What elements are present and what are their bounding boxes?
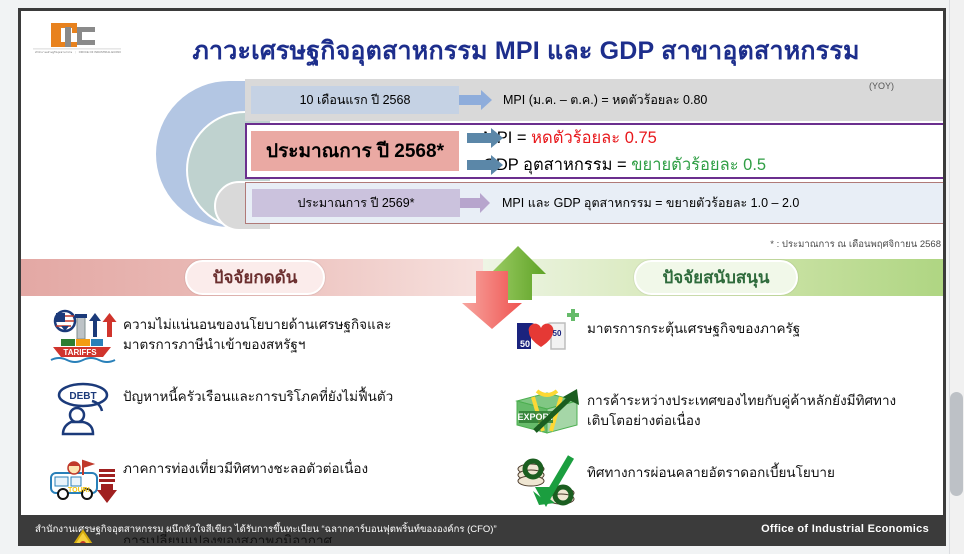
list-item-text: ปัญหาหนี้ครัวเรือนและการบริโภคที่ยังไม่ฟ… bbox=[123, 381, 487, 407]
list-item-text: มาตรการกระตุ้นเศรษฐกิจของภาครัฐ bbox=[587, 309, 946, 339]
list-item: การเปลี่ยนแปลงของสภาพภูมิอากาศ bbox=[47, 525, 487, 546]
list-item: TOUR! ภาคการท่องเที่ยวมีทิศทางชะลอตัวต่อ… bbox=[47, 453, 487, 509]
data-row-forecast-2569: ประมาณการ ปี 2569* MPI และ GDP อุตสาหกรร… bbox=[245, 182, 946, 224]
list-item: EXPORT การค้าระหว่างประเทศของไทยกับคู่ค้… bbox=[511, 381, 946, 437]
row-label-forecast-2569: ประมาณการ ปี 2569* bbox=[252, 189, 460, 217]
data-row-actual-2568: 10 เดือนแรก ปี 2568 MPI (ม.ค. – ต.ค.) = … bbox=[245, 79, 946, 121]
yoy-note: (YOY) bbox=[869, 81, 894, 91]
forecast-mpi-line: MPI = หดตัวร้อยละ 0.75 bbox=[467, 124, 946, 151]
list-item-text: ทิศทางการผ่อนคลายอัตราดอกเบี้ยนโยบาย bbox=[587, 453, 946, 483]
forecast-mpi-text: MPI = หดตัวร้อยละ 0.75 bbox=[483, 125, 657, 151]
row-label-forecast-2568: ประมาณการ ปี 2568* bbox=[251, 131, 459, 171]
climate-warning-icon bbox=[47, 525, 123, 546]
list-item: TARIFFS ความไม่แน่นอนของนโยบายด้านเศรษฐก… bbox=[47, 309, 487, 365]
arrow-down-icon bbox=[458, 269, 526, 331]
section-heading-pressure: ปัจจัยกดดัน bbox=[185, 260, 326, 295]
logo-sub-en: OFFICE OF INDUSTRIAL ECONOMICS bbox=[79, 51, 121, 54]
list-item-text: การเปลี่ยนแปลงของสภาพภูมิอากาศ bbox=[123, 525, 487, 546]
export-box-icon: EXPORT bbox=[511, 381, 587, 437]
scrollbar-thumb[interactable] bbox=[950, 392, 963, 496]
section-heading-support: ปัจจัยสนับสนุน bbox=[634, 260, 797, 295]
row-value-forecast-2569: MPI และ GDP อุตสาหกรรม = ขยายตัวร้อยละ 1… bbox=[502, 193, 946, 213]
forecast-gdp-line: GDP อุตสาหกรรม = ขยายตัวร้อยละ 0.5 bbox=[467, 151, 946, 178]
tourism-bus-icon: TOUR! bbox=[47, 453, 123, 509]
forecast-gdp-highlight: ขยายตัวร้อยละ 0.5 bbox=[631, 156, 766, 174]
list-item: 50 50 มาตรการกระตุ้นเศรษฐกิจของภาครัฐ bbox=[511, 309, 946, 365]
forecast-footnote: * : ประมาณการ ณ เดือนพฤศจิกายน 2568 bbox=[521, 237, 941, 252]
logo-sub-th: สำนักงานเศรษฐกิจอุตสาหกรรม bbox=[35, 51, 72, 54]
presentation-slide: สำนักงานเศรษฐกิจอุตสาหกรรม | OFFICE OF I… bbox=[18, 8, 946, 546]
forecast-mpi-highlight: หดตัวร้อยละ 0.75 bbox=[531, 129, 657, 147]
svg-text:TOUR!: TOUR! bbox=[68, 487, 90, 494]
svg-text:50: 50 bbox=[520, 339, 530, 349]
forecast-2568-values: MPI = หดตัวร้อยละ 0.75 GDP อุตสาหกรรม = … bbox=[467, 124, 946, 178]
svg-text:50: 50 bbox=[553, 329, 562, 338]
page-title: ภาวะเศรษฐกิจอุตสาหกรรม MPI และ GDP สาขาอ… bbox=[131, 31, 921, 71]
data-row-forecast-2568: ประมาณการ ปี 2568* MPI = หดตัวร้อยละ 0.7… bbox=[245, 123, 946, 179]
list-item: ทิศทางการผ่อนคลายอัตราดอกเบี้ยนโยบาย bbox=[511, 453, 946, 509]
forecast-gdp-text: GDP อุตสาหกรรม = ขยายตัวร้อยละ 0.5 bbox=[483, 152, 766, 178]
row-value-actual-2568: MPI (ม.ค. – ต.ค.) = หดตัวร้อยละ 0.80 bbox=[503, 90, 946, 110]
logo-subtitle: สำนักงานเศรษฐกิจอุตสาหกรรม | OFFICE OF I… bbox=[35, 51, 121, 54]
logo-sub-divider: | bbox=[73, 51, 78, 54]
section-banner-support: ปัจจัยสนับสนุน bbox=[483, 259, 946, 296]
screenshot-viewport: สำนักงานเศรษฐกิจอุตสาหกรรม | OFFICE OF I… bbox=[0, 0, 964, 554]
section-banner-pressure: ปัจจัยกดดัน bbox=[21, 259, 489, 296]
row-label-actual-2568: 10 เดือนแรก ปี 2568 bbox=[251, 86, 459, 114]
tariffs-ship-icon: TARIFFS bbox=[47, 309, 123, 365]
list-item-text: ความไม่แน่นอนของนโยบายด้านเศรษฐกิจและมาต… bbox=[123, 309, 487, 355]
vertical-scrollbar[interactable] bbox=[949, 0, 964, 554]
support-factor-list: 50 50 มาตรการกระตุ้นเศรษฐกิจของภาครัฐ bbox=[511, 309, 946, 525]
pressure-factor-list: TARIFFS ความไม่แน่นอนของนโยบายด้านเศรษฐก… bbox=[47, 309, 487, 546]
svg-text:TARIFFS: TARIFFS bbox=[63, 348, 97, 357]
list-item: DEBT ปัญหาหนี้ครัวเรือนและการบริโภคที่ยั… bbox=[47, 381, 487, 437]
list-item-text: การค้าระหว่างประเทศของไทยกับคู่ค้าหลักยั… bbox=[587, 381, 946, 431]
list-item-text: ภาคการท่องเที่ยวมีทิศทางชะลอตัวต่อเนื่อง bbox=[123, 453, 487, 479]
oie-logo: สำนักงานเศรษฐกิจอุตสาหกรรม | OFFICE OF I… bbox=[33, 21, 121, 65]
percent-coins-icon bbox=[511, 453, 587, 509]
household-debt-icon: DEBT bbox=[47, 381, 123, 437]
forecast-gdp-prefix: GDP อุตสาหกรรม = bbox=[483, 156, 631, 174]
